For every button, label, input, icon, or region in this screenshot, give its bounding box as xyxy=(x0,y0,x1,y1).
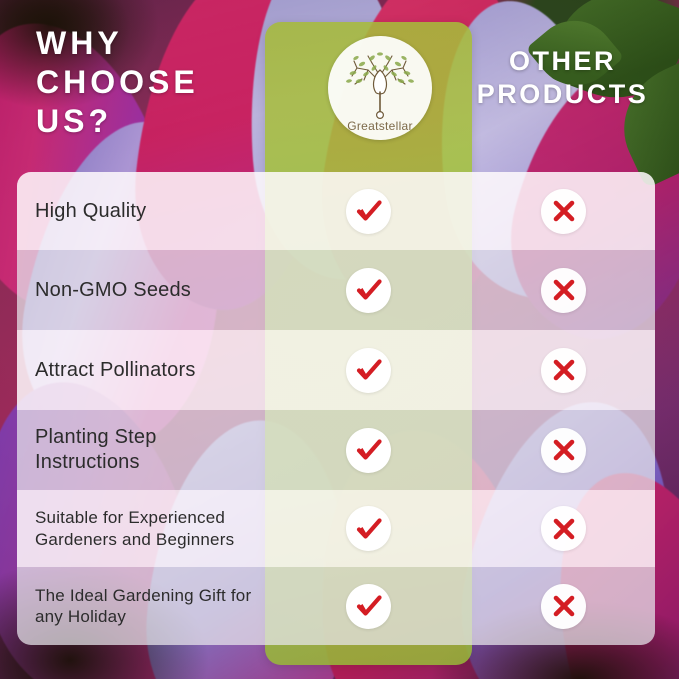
check-badge xyxy=(346,584,391,629)
page-title-why-choose-us: WHY CHOOSE US? xyxy=(36,24,251,141)
table-row: High Quality xyxy=(17,172,655,250)
check-badge xyxy=(346,506,391,551)
comparison-table: High Quality Non-GMO Seeds xyxy=(17,172,655,645)
feature-label: High Quality xyxy=(17,199,265,224)
check-icon xyxy=(354,591,384,621)
cell-us xyxy=(265,506,472,551)
check-badge xyxy=(346,428,391,473)
cross-icon xyxy=(549,435,579,465)
feature-label: Suitable for Experienced Gardeners and B… xyxy=(17,507,265,550)
cell-us xyxy=(265,189,472,234)
table-row: The Ideal Gardening Gift for any Holiday xyxy=(17,567,655,645)
cell-us xyxy=(265,584,472,629)
cell-us xyxy=(265,348,472,393)
check-badge xyxy=(346,348,391,393)
cross-icon xyxy=(549,591,579,621)
cross-icon xyxy=(549,514,579,544)
cell-other xyxy=(472,428,655,473)
cross-badge xyxy=(541,268,586,313)
check-icon xyxy=(354,355,384,385)
cross-icon xyxy=(549,275,579,305)
check-icon xyxy=(354,435,384,465)
feature-label: Non-GMO Seeds xyxy=(17,278,265,303)
why-choose-us-infographic: WHY CHOOSE US? OTHER PRODUCTS xyxy=(0,0,679,679)
cross-badge xyxy=(541,348,586,393)
table-row: Planting Step Instructions xyxy=(17,410,655,490)
cross-icon xyxy=(549,196,579,226)
cross-badge xyxy=(541,584,586,629)
feature-label: The Ideal Gardening Gift for any Holiday xyxy=(17,585,265,628)
table-row: Suitable for Experienced Gardeners and B… xyxy=(17,490,655,567)
check-badge xyxy=(346,189,391,234)
cross-badge xyxy=(541,506,586,551)
cross-badge xyxy=(541,189,586,234)
check-badge xyxy=(346,268,391,313)
cell-other xyxy=(472,189,655,234)
column-header-other-products: OTHER PRODUCTS xyxy=(455,45,670,111)
cross-icon xyxy=(549,355,579,385)
table-row: Attract Pollinators xyxy=(17,330,655,410)
cell-other xyxy=(472,506,655,551)
check-icon xyxy=(354,514,384,544)
feature-label: Attract Pollinators xyxy=(17,358,265,383)
brand-logo: Greatstellar xyxy=(328,36,432,140)
cell-us xyxy=(265,268,472,313)
cross-badge xyxy=(541,428,586,473)
cell-other xyxy=(472,584,655,629)
cell-other xyxy=(472,348,655,393)
table-row: Non-GMO Seeds xyxy=(17,250,655,330)
cell-us xyxy=(265,428,472,473)
cell-other xyxy=(472,268,655,313)
brand-wordmark: Greatstellar xyxy=(328,119,432,133)
check-icon xyxy=(354,275,384,305)
check-icon xyxy=(354,196,384,226)
feature-label: Planting Step Instructions xyxy=(17,425,265,475)
